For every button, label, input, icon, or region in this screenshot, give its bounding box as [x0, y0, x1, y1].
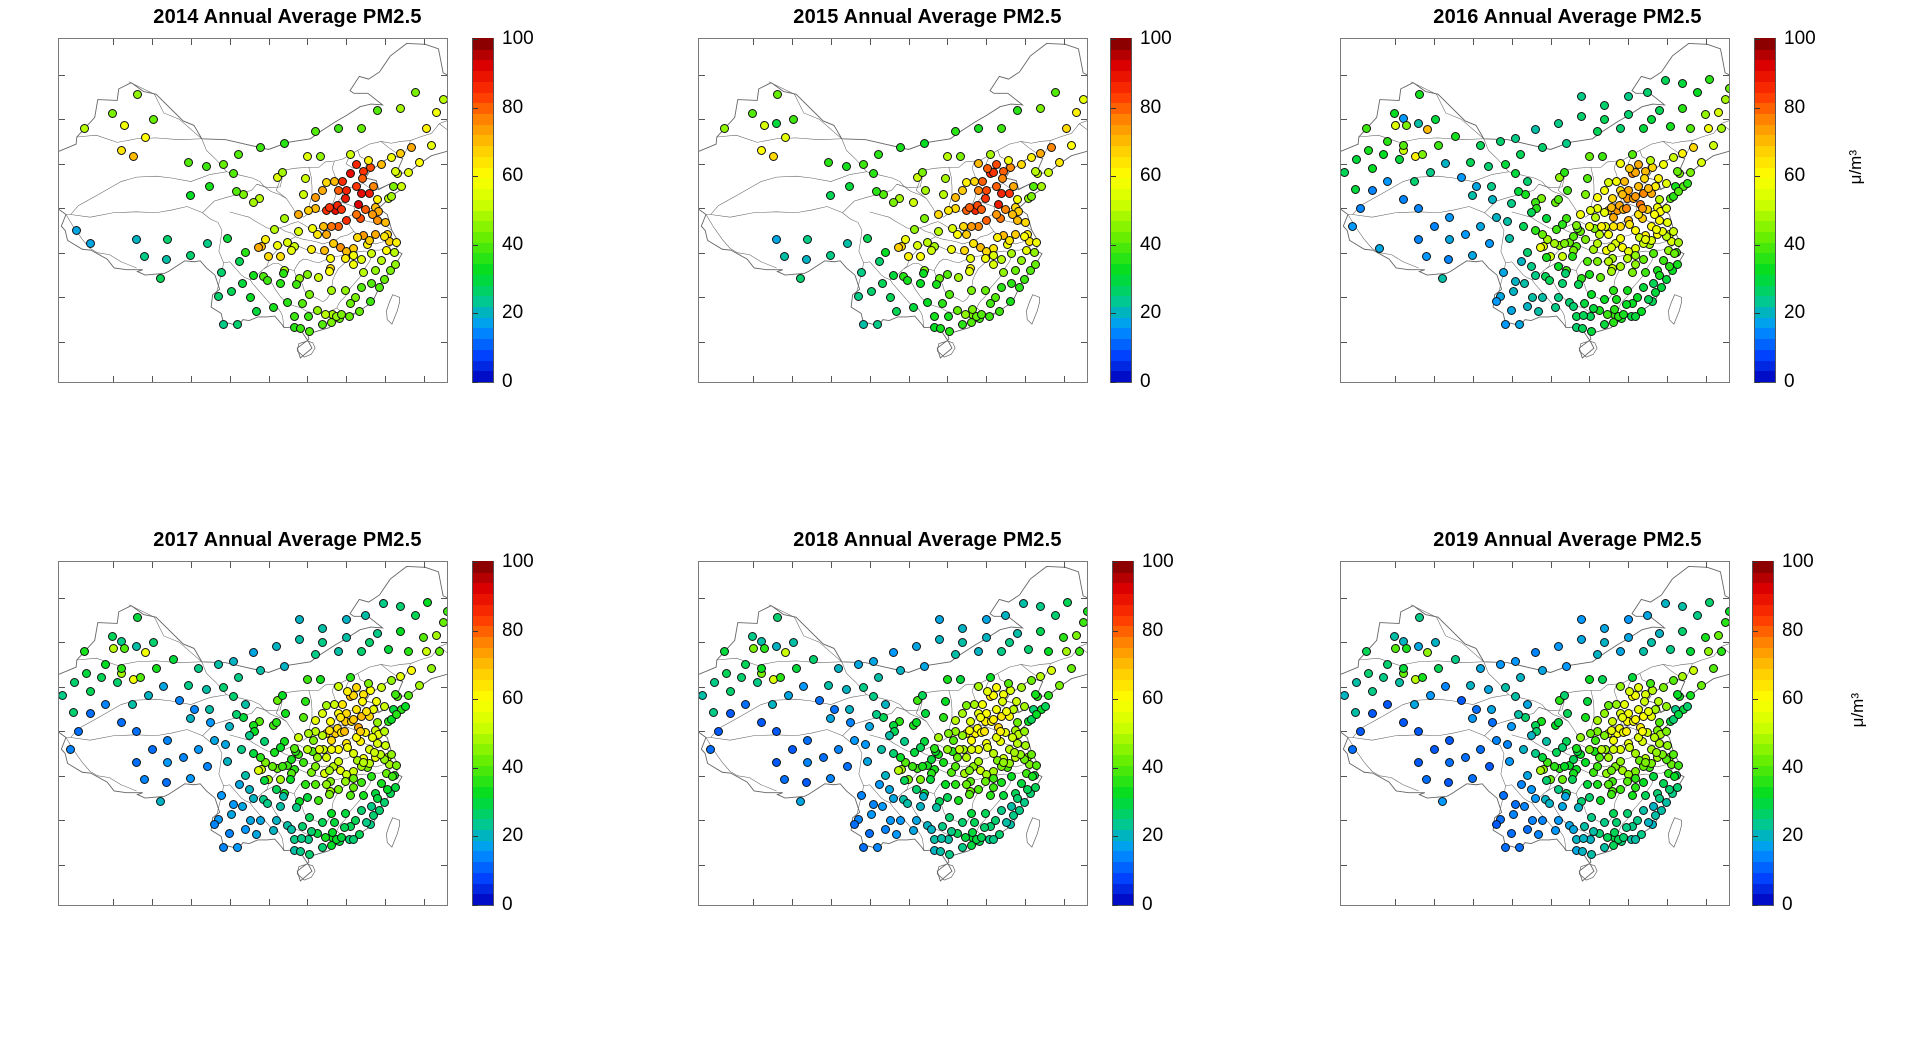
- station-marker: [1399, 718, 1408, 727]
- colorbar-tick: [473, 176, 478, 177]
- station-marker: [1036, 627, 1045, 636]
- station-marker: [1577, 635, 1586, 644]
- x-tick-top: [1025, 562, 1026, 568]
- station-marker: [1678, 627, 1687, 636]
- station-marker: [375, 283, 384, 292]
- y-tick-right: [1723, 119, 1729, 120]
- station-marker: [1434, 664, 1443, 673]
- station-marker: [203, 762, 212, 771]
- station-marker: [900, 776, 909, 785]
- colorbar-tick: [1753, 562, 1758, 563]
- colorbar: 100806040200: [472, 561, 494, 906]
- station-marker: [1618, 190, 1627, 199]
- station-marker: [391, 167, 400, 176]
- station-marker: [286, 775, 295, 784]
- station-marker: [249, 648, 258, 657]
- colorbar-segment: [1753, 615, 1773, 627]
- x-tick-top: [1473, 562, 1474, 568]
- colorbar-segment: [1755, 274, 1775, 286]
- station-marker: [392, 761, 401, 770]
- colorbar-segment: [473, 604, 493, 616]
- y-tick: [1341, 75, 1347, 76]
- station-marker: [1348, 745, 1357, 754]
- station-marker: [1697, 158, 1706, 167]
- colorbar-segment: [1113, 722, 1133, 734]
- station-marker: [246, 293, 255, 302]
- colorbar-tick-label: 100: [1782, 551, 1814, 573]
- station-marker: [132, 727, 141, 736]
- station-marker: [921, 709, 930, 718]
- station-marker: [1527, 785, 1536, 794]
- station-marker: [337, 310, 346, 319]
- station-marker: [894, 766, 903, 775]
- x-tick: [792, 899, 793, 905]
- y-tick: [59, 253, 65, 254]
- station-marker: [951, 762, 960, 771]
- station-marker: [1616, 159, 1625, 168]
- station-marker: [269, 826, 278, 835]
- station-marker: [1625, 220, 1634, 229]
- x-tick: [385, 899, 386, 905]
- colorbar-tick: [1111, 313, 1116, 314]
- y-tick-right: [1723, 687, 1729, 688]
- station-marker: [842, 162, 851, 171]
- station-marker: [1569, 825, 1578, 834]
- station-marker: [968, 828, 977, 837]
- station-marker: [889, 271, 898, 280]
- colorbar-segment: [1753, 861, 1773, 873]
- station-marker: [1674, 238, 1683, 247]
- station-marker: [86, 687, 95, 696]
- station-marker: [202, 162, 211, 171]
- station-marker: [1031, 690, 1040, 699]
- station-marker: [1624, 633, 1633, 642]
- colorbar-segment: [1111, 338, 1131, 350]
- station-marker: [1714, 631, 1723, 640]
- station-marker: [1686, 691, 1695, 700]
- x-tick-top: [753, 39, 754, 45]
- x-tick-top: [1667, 39, 1668, 45]
- station-marker: [803, 736, 812, 745]
- station-marker: [432, 631, 441, 640]
- colorbar-tick-label: 20: [502, 302, 523, 324]
- colorbar-segment: [1753, 583, 1773, 595]
- colorbar-segment: [473, 328, 493, 340]
- station-marker: [1554, 785, 1563, 794]
- x-tick-top: [385, 562, 386, 568]
- x-tick: [1064, 899, 1065, 905]
- station-marker: [297, 834, 306, 843]
- station-marker: [859, 320, 868, 329]
- station-marker: [1554, 119, 1563, 128]
- x-tick-top: [346, 39, 347, 45]
- station-marker: [803, 758, 812, 767]
- station-marker: [1527, 731, 1536, 740]
- station-marker: [955, 745, 964, 754]
- x-tick: [1551, 376, 1552, 382]
- colorbar-segment: [1111, 328, 1131, 340]
- y-tick-right: [441, 865, 447, 866]
- x-tick: [1667, 899, 1668, 905]
- y-tick-right: [441, 342, 447, 343]
- colorbar-tick-label: 20: [1140, 302, 1161, 324]
- station-marker: [1001, 611, 1010, 620]
- station-marker: [1488, 718, 1497, 727]
- station-marker: [843, 239, 852, 248]
- station-marker: [1612, 818, 1621, 827]
- y-tick: [59, 342, 65, 343]
- station-marker: [1585, 675, 1594, 684]
- station-marker: [1585, 270, 1594, 279]
- station-marker: [1569, 302, 1578, 311]
- station-marker: [1356, 204, 1365, 213]
- colorbar-segment: [473, 317, 493, 329]
- station-marker: [997, 255, 1006, 264]
- colorbar-segment: [473, 733, 493, 745]
- station-marker: [1015, 283, 1024, 292]
- x-tick: [909, 376, 910, 382]
- colorbar-segment: [473, 722, 493, 734]
- x-tick: [191, 899, 192, 905]
- colorbar-segment: [1753, 883, 1773, 895]
- colorbar-segment: [1113, 840, 1133, 852]
- station-marker: [1414, 727, 1423, 736]
- station-marker: [962, 230, 971, 239]
- station-marker: [326, 717, 335, 726]
- x-tick: [1628, 899, 1629, 905]
- x-tick: [113, 899, 114, 905]
- colorbar-segment: [1753, 743, 1773, 755]
- station-marker: [1604, 753, 1613, 762]
- station-marker: [989, 260, 998, 269]
- colorbar-tick: [1111, 108, 1116, 109]
- colorbar-segment: [473, 349, 493, 361]
- y-tick-right: [1081, 75, 1087, 76]
- station-marker: [1476, 745, 1485, 754]
- colorbar-tick-label: 20: [502, 825, 523, 847]
- station-marker: [863, 234, 872, 243]
- station-marker: [1643, 611, 1652, 620]
- station-marker: [309, 736, 318, 745]
- station-marker: [726, 687, 735, 696]
- colorbar-segment: [1753, 658, 1773, 670]
- station-marker: [219, 320, 228, 329]
- station-marker: [391, 690, 400, 699]
- station-marker: [296, 847, 305, 856]
- station-marker: [1581, 758, 1590, 767]
- station-marker: [749, 644, 758, 653]
- station-marker: [1674, 761, 1683, 770]
- station-marker: [370, 748, 379, 757]
- station-marker: [82, 669, 91, 678]
- colorbar-segment: [473, 818, 493, 830]
- station-marker: [1578, 324, 1587, 333]
- station-marker: [1511, 800, 1520, 809]
- colorbar-segment: [1111, 156, 1131, 168]
- colorbar-tick-label: 100: [502, 551, 534, 573]
- station-marker: [1650, 733, 1659, 742]
- station-marker: [1431, 638, 1440, 647]
- colorbar-tick-label: 100: [1142, 551, 1174, 573]
- colorbar-segment: [473, 178, 493, 190]
- station-marker: [958, 818, 967, 827]
- colorbar-segment: [1753, 593, 1773, 605]
- y-tick: [59, 297, 65, 298]
- colorbar-tick: [1113, 905, 1118, 906]
- station-marker: [1352, 155, 1361, 164]
- colorbar-segment: [1753, 722, 1773, 734]
- station-marker: [1625, 687, 1634, 696]
- station-marker: [1585, 152, 1594, 161]
- station-marker: [1002, 707, 1011, 716]
- station-marker: [977, 310, 986, 319]
- colorbar-segment: [1113, 872, 1133, 884]
- colorbar-segment: [1113, 583, 1133, 595]
- station-marker: [1593, 239, 1602, 248]
- x-tick: [113, 376, 114, 382]
- colorbar-segment: [473, 360, 493, 372]
- station-marker: [1020, 232, 1029, 241]
- station-marker: [357, 255, 366, 264]
- station-marker: [336, 713, 345, 722]
- colorbar-segment: [1753, 851, 1773, 863]
- station-marker: [1554, 195, 1563, 204]
- station-marker: [943, 793, 952, 802]
- station-marker: [894, 243, 903, 252]
- station-marker: [958, 731, 967, 740]
- colorbar-segment: [473, 210, 493, 222]
- station-marker: [912, 785, 921, 794]
- station-marker: [365, 236, 374, 245]
- station-marker: [407, 143, 416, 152]
- station-marker: [1492, 736, 1501, 745]
- station-marker: [186, 191, 195, 200]
- colorbar-segment: [473, 861, 493, 873]
- station-marker: [203, 239, 212, 248]
- station-marker: [1669, 676, 1678, 685]
- station-marker: [435, 647, 444, 656]
- station-marker: [241, 771, 250, 780]
- colorbar-segment: [1113, 743, 1133, 755]
- colorbar-segment: [1753, 604, 1773, 616]
- colorbar-segment: [473, 786, 493, 798]
- station-marker: [117, 664, 126, 673]
- station-marker: [944, 206, 953, 215]
- station-marker: [214, 660, 223, 669]
- station-marker: [1631, 835, 1640, 844]
- y-tick-right: [1081, 253, 1087, 254]
- station-marker: [1023, 785, 1032, 794]
- x-tick: [1395, 376, 1396, 382]
- colorbar-segment: [1753, 765, 1773, 777]
- station-marker: [1523, 177, 1532, 186]
- station-marker: [346, 150, 355, 159]
- station-marker: [1542, 253, 1551, 262]
- colorbar-segment: [1755, 220, 1775, 232]
- x-tick-top: [113, 39, 114, 45]
- colorbar-tick-label: 60: [1142, 688, 1163, 710]
- x-tick-top: [1512, 39, 1513, 45]
- colorbar-segment: [1755, 242, 1775, 254]
- station-marker: [1415, 613, 1424, 622]
- colorbar-tick: [473, 245, 478, 246]
- station-marker: [334, 124, 343, 133]
- station-marker: [1600, 731, 1609, 740]
- station-marker: [1004, 679, 1013, 688]
- y-tick-right: [1723, 776, 1729, 777]
- colorbar-segment: [473, 253, 493, 265]
- station-marker: [1013, 794, 1022, 803]
- colorbar-segment: [473, 840, 493, 852]
- station-marker: [878, 802, 887, 811]
- station-marker: [1622, 204, 1631, 213]
- station-marker: [1523, 825, 1532, 834]
- station-marker: [1619, 310, 1628, 319]
- station-marker: [1006, 297, 1015, 306]
- station-marker: [303, 675, 312, 684]
- station-marker: [423, 598, 432, 607]
- station-marker: [873, 320, 882, 329]
- y-tick-right: [1723, 598, 1729, 599]
- y-tick-right: [441, 75, 447, 76]
- station-marker: [869, 800, 878, 809]
- colorbar-tick: [473, 905, 478, 906]
- colorbar-segment: [1113, 829, 1133, 841]
- station-marker: [1612, 295, 1621, 304]
- station-marker: [1607, 243, 1616, 252]
- station-marker: [235, 257, 244, 266]
- colorbar-segment: [1755, 188, 1775, 200]
- station-marker: [132, 235, 141, 244]
- x-tick: [424, 899, 425, 905]
- y-tick-right: [1081, 208, 1087, 209]
- station-marker: [1422, 252, 1431, 261]
- map-axes: 50¡ãN45¡ãN40¡ãN35¡ãN30¡ãN25¡ãN20¡ãN85¡ãE…: [698, 561, 1088, 906]
- station-marker: [982, 186, 991, 195]
- colorbar-segment: [1113, 765, 1133, 777]
- station-marker: [909, 303, 918, 312]
- y-tick: [699, 776, 705, 777]
- station-marker: [1600, 818, 1609, 827]
- colorbar-segment: [1753, 701, 1773, 713]
- colorbar-segment: [1753, 754, 1773, 766]
- station-marker: [1678, 602, 1687, 611]
- station-marker: [951, 127, 960, 136]
- colorbar-segment: [1113, 808, 1133, 820]
- y-tick: [1341, 297, 1347, 298]
- station-marker: [875, 780, 884, 789]
- x-tick-top: [986, 39, 987, 45]
- station-marker: [1705, 75, 1714, 84]
- station-marker: [872, 710, 881, 719]
- colorbar-segment: [1113, 636, 1133, 648]
- station-marker: [912, 642, 921, 651]
- colorbar-tick: [1755, 108, 1760, 109]
- station-marker: [1609, 736, 1618, 745]
- station-marker: [714, 727, 723, 736]
- station-marker: [1562, 662, 1571, 671]
- x-tick: [269, 899, 270, 905]
- station-marker: [1558, 743, 1567, 752]
- station-marker: [1623, 809, 1632, 818]
- colorbar-tick: [1113, 768, 1118, 769]
- station-marker: [1591, 213, 1600, 222]
- colorbar-segment: [1753, 776, 1773, 788]
- colorbar-tick: [1755, 245, 1760, 246]
- colorbar-tick-label: 0: [1142, 894, 1153, 916]
- station-marker: [283, 298, 292, 307]
- station-marker: [986, 791, 995, 800]
- station-marker: [210, 820, 219, 829]
- x-tick-top: [870, 562, 871, 568]
- station-marker: [303, 745, 312, 754]
- station-marker: [999, 268, 1008, 277]
- colorbar-segment: [1113, 861, 1133, 873]
- station-marker: [978, 700, 987, 709]
- station-marker: [175, 696, 184, 705]
- station-marker: [346, 791, 355, 800]
- panel-2019: 2019 Annual Average PM2.550¡ãN45¡ãN40¡ãN…: [1280, 523, 1920, 1046]
- colorbar-segment: [1111, 135, 1131, 147]
- station-marker: [269, 303, 278, 312]
- station-marker: [281, 709, 290, 718]
- station-marker: [920, 139, 929, 148]
- station-marker: [315, 745, 324, 754]
- colorbar-segment: [1111, 178, 1131, 190]
- x-tick: [1473, 376, 1474, 382]
- station-marker: [1641, 235, 1650, 244]
- station-marker: [802, 778, 811, 787]
- station-marker: [1558, 252, 1567, 261]
- colorbar-segment: [1755, 178, 1775, 190]
- station-marker: [1619, 833, 1628, 842]
- colorbar-segment: [473, 765, 493, 777]
- station-marker: [1593, 650, 1602, 659]
- colorbar-segment: [1113, 604, 1133, 616]
- y-tick-right: [441, 598, 447, 599]
- station-marker: [784, 691, 793, 700]
- station-marker: [854, 660, 863, 669]
- colorbar-tick-label: 100: [1140, 28, 1172, 50]
- station-marker: [86, 709, 95, 718]
- station-marker: [318, 638, 327, 647]
- map-axes: 50¡ãN45¡ãN40¡ãN35¡ãN30¡ãN25¡ãN20¡ãN85¡ãE…: [1340, 38, 1730, 383]
- station-marker: [1686, 124, 1695, 133]
- colorbar-tick-label: 40: [1782, 757, 1803, 779]
- colorbar-segment: [473, 593, 493, 605]
- colorbar-segment: [1755, 145, 1775, 157]
- station-marker: [981, 286, 990, 295]
- x-tick-top: [1064, 562, 1065, 568]
- colorbar-segment: [1111, 210, 1131, 222]
- station-marker: [1622, 300, 1631, 309]
- y-tick: [59, 776, 65, 777]
- station-marker: [958, 638, 967, 647]
- station-marker: [219, 843, 228, 852]
- station-marker: [980, 727, 989, 736]
- station-marker: [935, 635, 944, 644]
- station-marker: [1673, 167, 1682, 176]
- station-marker: [1600, 208, 1609, 217]
- station-marker: [1444, 778, 1453, 787]
- station-marker: [1047, 666, 1056, 675]
- colorbar-tick: [1111, 245, 1116, 246]
- y-tick: [1341, 119, 1347, 120]
- station-marker: [976, 713, 985, 722]
- station-marker: [1618, 713, 1627, 722]
- station-marker: [974, 159, 983, 168]
- y-tick: [699, 687, 705, 688]
